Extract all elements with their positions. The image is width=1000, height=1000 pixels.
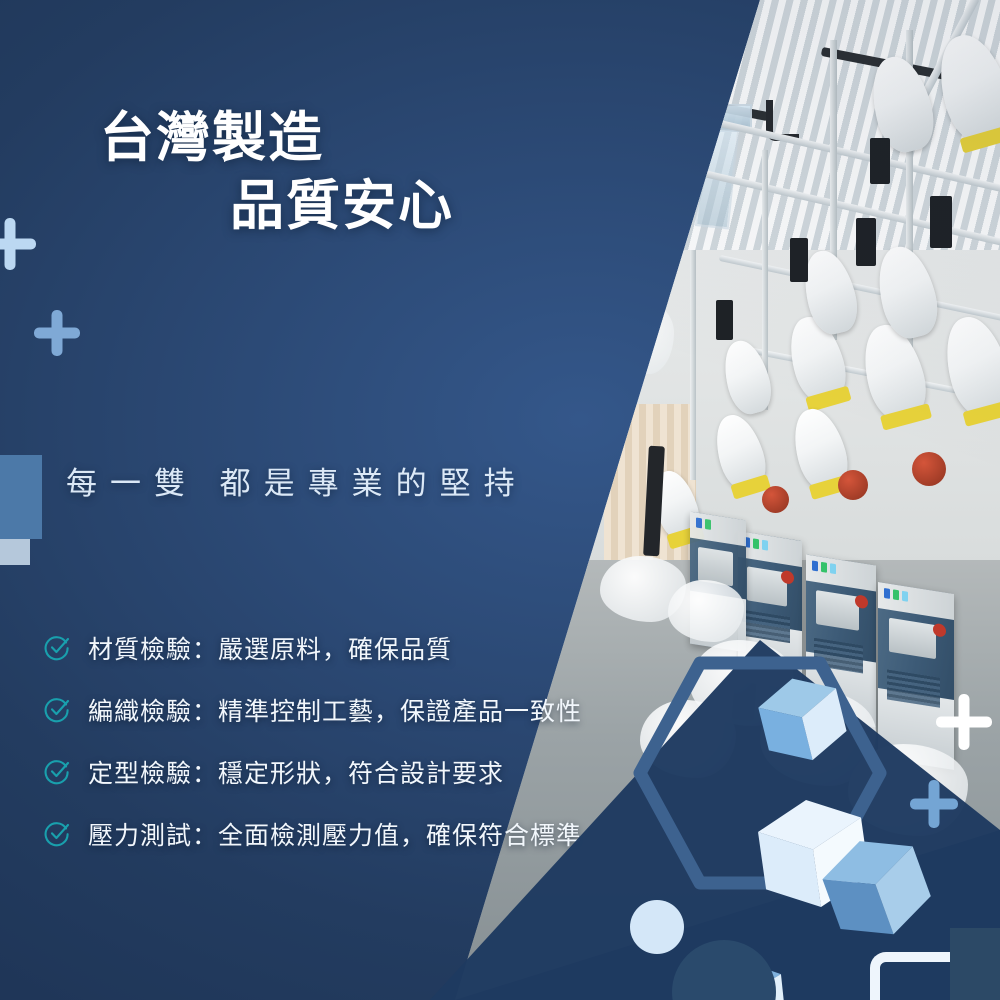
list-item-label: 定型檢驗：穩定形狀，符合設計要求	[88, 754, 504, 790]
plus-icon-left-upper	[34, 310, 80, 356]
check-circle-icon	[44, 759, 70, 785]
plus-icon-blue-right	[910, 780, 958, 828]
headline-block: 台灣製造 品質安心	[100, 104, 454, 240]
list-item-label: 材質檢驗：嚴選原料，確保品質	[88, 630, 452, 666]
pale-square-left	[0, 539, 30, 565]
subtitle: 每一雙 都是專業的堅持	[66, 458, 528, 503]
check-circle-icon	[44, 635, 70, 661]
circle-accent-ring	[638, 978, 734, 1000]
cube-blue-upper	[745, 670, 855, 775]
circle-pale-bottom	[630, 900, 684, 954]
list-item: 定型檢驗：穩定形狀，符合設計要求	[44, 741, 582, 803]
headline-line-2: 品質安心	[230, 172, 454, 240]
check-circle-icon	[44, 697, 70, 723]
muted-square-bottom-right	[950, 928, 1000, 1000]
feature-list: 材質檢驗：嚴選原料，確保品質 編織檢驗：精準控制工藝，保證產品一致性 定型檢驗：…	[44, 617, 582, 865]
list-item-label: 編織檢驗：精準控制工藝，保證產品一致性	[88, 692, 582, 728]
list-item-label: 壓力測試：全面檢測壓力值，確保符合標準	[88, 816, 582, 852]
list-item: 材質檢驗：嚴選原料，確保品質	[44, 617, 582, 679]
headline-line-1: 台灣製造	[100, 104, 454, 172]
plus-icon-left-edge	[0, 218, 36, 270]
ceiling-hook	[648, 212, 677, 249]
plus-icon-white-right	[936, 694, 992, 750]
check-circle-icon	[44, 821, 70, 847]
list-item: 編織檢驗：精準控制工藝，保證產品一致性	[44, 679, 582, 741]
product-bag	[560, 330, 630, 450]
cube-blue-lower	[810, 830, 940, 955]
accent-square-left	[0, 455, 42, 539]
promo-banner: 台灣製造 品質安心 每一雙 都是專業的堅持 材質檢驗：嚴選原料，確保品質 編織檢…	[0, 0, 1000, 1000]
list-item: 壓力測試：全面檢測壓力值，確保符合標準	[44, 803, 582, 865]
